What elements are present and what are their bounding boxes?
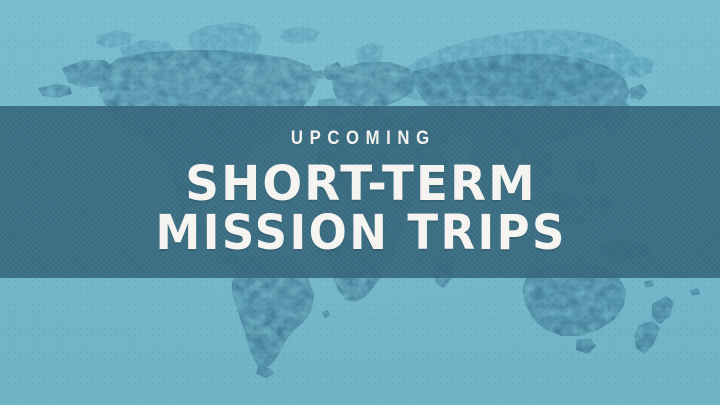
title-block: UPCOMING SHORT-TERM MISSION TRIPS (0, 106, 720, 278)
headline-line-2: MISSION TRIPS (153, 211, 567, 256)
slide-canvas: UPCOMING SHORT-TERM MISSION TRIPS (0, 0, 720, 405)
headline-line-1: SHORT-TERM (183, 162, 537, 207)
kicker-text: UPCOMING (284, 129, 435, 148)
